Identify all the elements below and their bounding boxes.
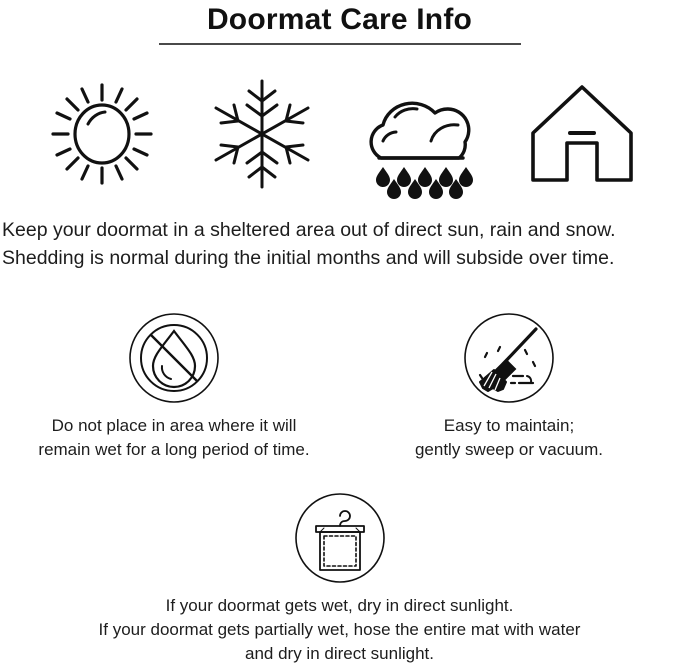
rain-cloud-icon <box>357 75 487 193</box>
care-column-no-water: Do not place in area where it will remai… <box>4 312 344 462</box>
title-block: Doormat Care Info <box>0 0 679 45</box>
intro-line-1: Keep your doormat in a sheltered area ou… <box>2 216 679 244</box>
no-water-line-1: Do not place in area where it will <box>4 414 344 438</box>
care-caption-sweep: Easy to maintain; gently sweep or vacuum… <box>339 414 679 462</box>
weather-icon-row <box>0 72 679 196</box>
snowflake-icon <box>209 75 315 193</box>
intro-paragraph: Keep your doormat in a sheltered area ou… <box>2 216 679 272</box>
hang-dry-icon <box>294 492 386 584</box>
care-caption-no-water: Do not place in area where it will remai… <box>4 414 344 462</box>
care-columns: Do not place in area where it will remai… <box>0 312 679 472</box>
drying-caption: If your doormat gets wet, dry in direct … <box>0 594 679 666</box>
intro-line-2: Shedding is normal during the initial mo… <box>2 244 679 272</box>
drying-block: If your doormat gets wet, dry in direct … <box>0 492 679 666</box>
title-underline-rule <box>159 43 521 45</box>
sun-icon <box>47 75 157 193</box>
broom-icon <box>463 312 555 404</box>
rain-drops <box>376 167 473 199</box>
drying-line-2: If your doormat gets partially wet, hose… <box>0 618 679 642</box>
no-water-line-2: remain wet for a long period of time. <box>4 438 344 462</box>
drying-line-1: If your doormat gets wet, dry in direct … <box>0 594 679 618</box>
care-column-sweep: Easy to maintain; gently sweep or vacuum… <box>339 312 679 462</box>
sweep-line-2: gently sweep or vacuum. <box>339 438 679 462</box>
sweep-line-1: Easy to maintain; <box>339 414 679 438</box>
no-water-droplet-icon <box>128 312 220 404</box>
weather-cell-shelter <box>512 72 652 196</box>
house-icon <box>523 75 641 193</box>
weather-cell-sun <box>32 72 172 196</box>
drying-line-3: and dry in direct sunlight. <box>0 642 679 666</box>
weather-cell-snow <box>192 72 332 196</box>
page-title: Doormat Care Info <box>0 0 679 38</box>
weather-cell-rain <box>352 72 492 196</box>
